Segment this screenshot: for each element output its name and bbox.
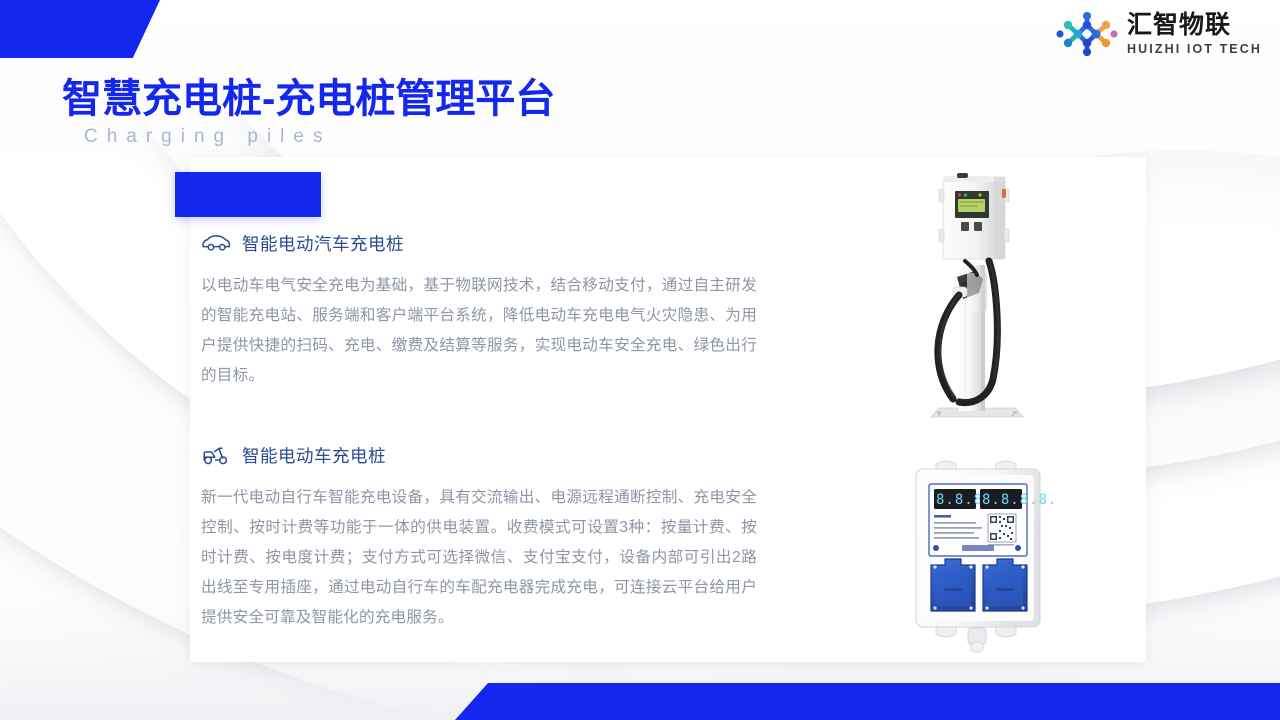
brand-logo-text: 汇智物联 HUIZHI IOT TECH <box>1127 13 1262 56</box>
page-subtitle: Charging piles <box>84 126 331 148</box>
page-title: 智慧充电桩-充电桩管理平台 <box>62 66 555 124</box>
section-ev-charging-pile: 智能电动汽车充电桩 以电动车电气安全充电为基础，基于物联网技术，结合移动支付，通… <box>201 228 781 391</box>
scooter-icon <box>201 444 231 466</box>
ev-charging-pile-image <box>905 165 1060 425</box>
section-title: 智能电动汽车充电桩 <box>242 231 404 256</box>
ebike-charging-box-image: 8.8.8.8. 8.8.8.8. <box>900 452 1065 657</box>
brand-logo: 汇智物联 HUIZHI IOT TECH <box>1056 12 1262 56</box>
brand-name-en: HUIZHI IOT TECH <box>1127 43 1262 56</box>
slide-root: 智慧充电桩-充电桩管理平台 Charging piles <box>0 0 1280 720</box>
socket-right <box>983 559 1027 611</box>
section-body: 以电动车电气安全充电为基础，基于物联网技术，结合移动支付，通过自主研发的智能充电… <box>201 271 757 391</box>
car-icon <box>201 232 231 254</box>
section-title: 智能电动车充电桩 <box>242 443 386 468</box>
qr-code-icon <box>988 514 1016 542</box>
section-body: 新一代电动自行车智能充电设备，具有交流输出、电源远程通断控制、充电安全控制、按时… <box>201 483 757 633</box>
section-ebike-charging-pile: 智能电动车充电桩 新一代电动自行车智能充电设备，具有交流输出、电源远程通断控制、… <box>201 440 781 633</box>
section-header: 智能电动汽车充电桩 <box>201 228 781 258</box>
decor-blue-top-left <box>0 0 160 58</box>
molecule-network-icon <box>1056 12 1118 56</box>
panel-brand-label <box>962 545 994 551</box>
brand-name-cn: 汇智物联 <box>1127 13 1262 38</box>
socket-left <box>931 559 975 611</box>
decor-blue-bottom-bar <box>455 683 1280 720</box>
section-tag-block <box>175 172 321 217</box>
section-header: 智能电动车充电桩 <box>201 440 781 470</box>
display-right-value: 8.8.8.8. <box>982 492 1057 508</box>
